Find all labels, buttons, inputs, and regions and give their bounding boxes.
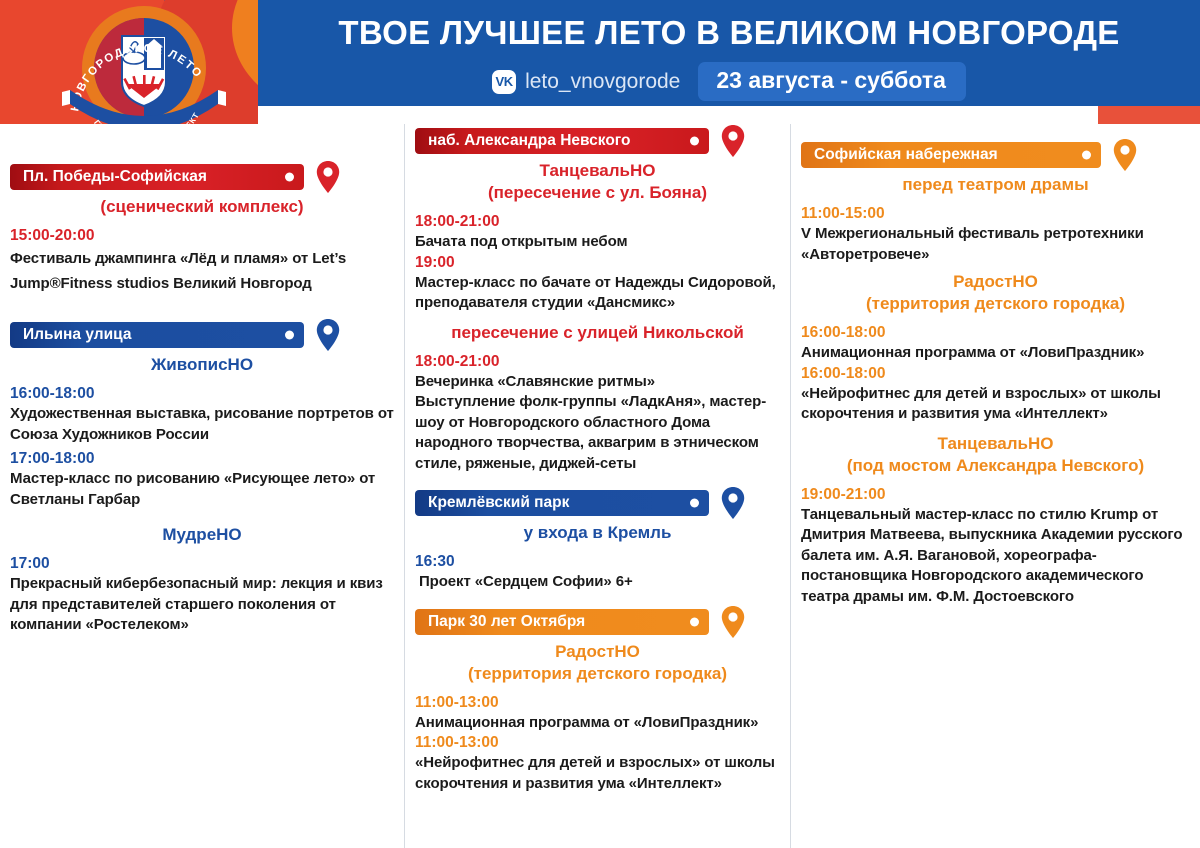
group-title: ЖивописНО <box>10 354 394 376</box>
venue-name: Пл. Победы-Софийская <box>23 168 207 186</box>
group-title: ТанцевальНО (пересечение с ул. Бояна) <box>415 160 780 204</box>
venue-header: Ильина улица <box>10 322 394 348</box>
schedule-columns: Пл. Победы-Софийская (сценический компле… <box>0 124 1200 848</box>
column-middle: наб. Александра Невского ТанцевальНО (пе… <box>404 124 790 848</box>
column-right: Софийская набережная перед театром драмы… <box>790 124 1200 848</box>
map-pin-icon <box>316 161 340 193</box>
venue-name: Ильина улица <box>23 326 131 344</box>
event-description: Танцевальный мастер-класс по стилю Krump… <box>801 505 1190 608</box>
banner-dot-icon <box>285 173 294 182</box>
group-title: МудреНО <box>10 524 394 546</box>
event-time: 16:00-18:00 <box>801 323 1190 343</box>
venue-block: Софийская набережная перед театром драмы… <box>801 142 1190 607</box>
event-description: Художественная выставка, рисование портр… <box>10 404 394 445</box>
header-band-foot <box>258 106 1098 124</box>
venue-header: Пл. Победы-Софийская <box>10 164 394 190</box>
event-description: Фестиваль джампинга «Лёд и пламя» от Let… <box>10 246 394 296</box>
event-time: 16:30 <box>415 552 780 572</box>
event-time: 11:00-15:00 <box>801 204 1190 224</box>
vk-icon: VK <box>492 70 516 94</box>
header-subline: VK leto_vnovgorode 23 августа - суббота <box>258 62 1200 101</box>
column-left: Пл. Победы-Софийская (сценический компле… <box>0 124 404 848</box>
event-time: 17:00-18:00 <box>10 449 394 469</box>
venue-name-banner: Парк 30 лет Октября <box>415 609 709 635</box>
map-pin-icon <box>316 319 340 351</box>
banner-dot-icon <box>690 617 699 626</box>
venue-name: Софийская набережная <box>814 146 998 164</box>
event-time: 18:00-21:00 <box>415 352 780 372</box>
venue-name-banner: Ильина улица <box>10 322 304 348</box>
group-title: ТанцевальНО (под мостом Александра Невск… <box>801 433 1190 477</box>
venue-name: Кремлёвский парк <box>428 494 569 512</box>
banner-dot-icon <box>285 331 294 340</box>
event-description: Мастер-класс по рисованию «Рисующее лето… <box>10 469 394 510</box>
venue-block: Кремлёвский парк у входа в Кремль 16:30 … <box>415 490 780 593</box>
event-description: Проект «Сердцем Софии» 6+ <box>415 572 780 593</box>
vk-handle[interactable]: VK leto_vnovgorode <box>492 70 698 94</box>
event-description: Анимационная программа от «ЛовиПраздник» <box>415 713 780 734</box>
venue-block: Ильина улица ЖивописНО 16:00-18:00 Худож… <box>10 322 394 636</box>
venue-header: Парк 30 лет Октября <box>415 609 780 635</box>
logo-emblem: НОВГОРОДСКОЕ ЛЕТО ГУБЕРНАТОРСКИЙ ПРОЕКТ <box>60 6 228 124</box>
group-title: перед театром драмы <box>801 174 1190 196</box>
venue-name-banner: Софийская набережная <box>801 142 1101 168</box>
poster-header: НОВГОРОДСКОЕ ЛЕТО ГУБЕРНАТОРСКИЙ ПРОЕКТ … <box>0 0 1200 124</box>
date-badge: 23 августа - суббота <box>698 62 966 101</box>
event-time: 16:00-18:00 <box>801 364 1190 384</box>
venue-block: наб. Александра Невского ТанцевальНО (пе… <box>415 128 780 474</box>
group-title: РадостНО (территория детского городка) <box>801 271 1190 315</box>
venue-header: Софийская набережная <box>801 142 1190 168</box>
event-description: Прекрасный кибербезопасный мир: лекция и… <box>10 574 394 636</box>
venue-block: Пл. Победы-Софийская (сценический компле… <box>10 164 394 296</box>
event-description: Мастер-класс по бачате от Надежды Сидоро… <box>415 273 780 314</box>
event-time: 11:00-13:00 <box>415 733 780 753</box>
venue-name-banner: наб. Александра Невского <box>415 128 709 154</box>
venue-header: Кремлёвский парк <box>415 490 780 516</box>
banner-dot-icon <box>1082 151 1091 160</box>
venue-name-banner: Кремлёвский парк <box>415 490 709 516</box>
event-time: 11:00-13:00 <box>415 693 780 713</box>
banner-dot-icon <box>690 499 699 508</box>
venue-name: Парк 30 лет Октября <box>428 613 585 631</box>
map-pin-icon <box>721 125 745 157</box>
event-time: 17:00 <box>10 554 394 574</box>
event-description: Вечеринка «Славянские ритмы» Выступление… <box>415 372 780 475</box>
event-description: V Межрегиональный фестиваль ретротехники… <box>801 224 1190 265</box>
venue-header: наб. Александра Невского <box>415 128 780 154</box>
event-time: 18:00-21:00 <box>415 212 780 232</box>
venue-name: наб. Александра Невского <box>428 132 631 150</box>
event-description: Бачата под открытым небом <box>415 232 780 253</box>
vk-handle-text: leto_vnovgorode <box>525 70 680 94</box>
page-title: ТВОЕ ЛУЧШЕЕ ЛЕТО В ВЕЛИКОМ НОВГОРОДЕ <box>258 14 1200 52</box>
event-time: 19:00-21:00 <box>801 485 1190 505</box>
event-description: «Нейрофитнес для детей и взрослых» от шк… <box>415 753 780 794</box>
poster-root: НОВГОРОДСКОЕ ЛЕТО ГУБЕРНАТОРСКИЙ ПРОЕКТ … <box>0 0 1200 848</box>
event-description: Анимационная программа от «ЛовиПраздник» <box>801 343 1190 364</box>
banner-dot-icon <box>690 137 699 146</box>
event-description: «Нейрофитнес для детей и взрослых» от шк… <box>801 384 1190 425</box>
venue-block: Парк 30 лет Октября РадостНО (территория… <box>415 609 780 795</box>
event-time: 15:00-20:00 <box>10 226 394 246</box>
venue-name-banner: Пл. Победы-Софийская <box>10 164 304 190</box>
map-pin-icon <box>721 606 745 638</box>
group-title: пересечение с улицей Никольской <box>415 322 780 344</box>
event-time: 16:00-18:00 <box>10 384 394 404</box>
map-pin-icon <box>721 487 745 519</box>
map-pin-icon <box>1113 139 1137 171</box>
group-title: (сценический комплекс) <box>10 196 394 218</box>
event-time: 19:00 <box>415 253 780 273</box>
group-title: у входа в Кремль <box>415 522 780 544</box>
group-title: РадостНО (территория детского городка) <box>415 641 780 685</box>
